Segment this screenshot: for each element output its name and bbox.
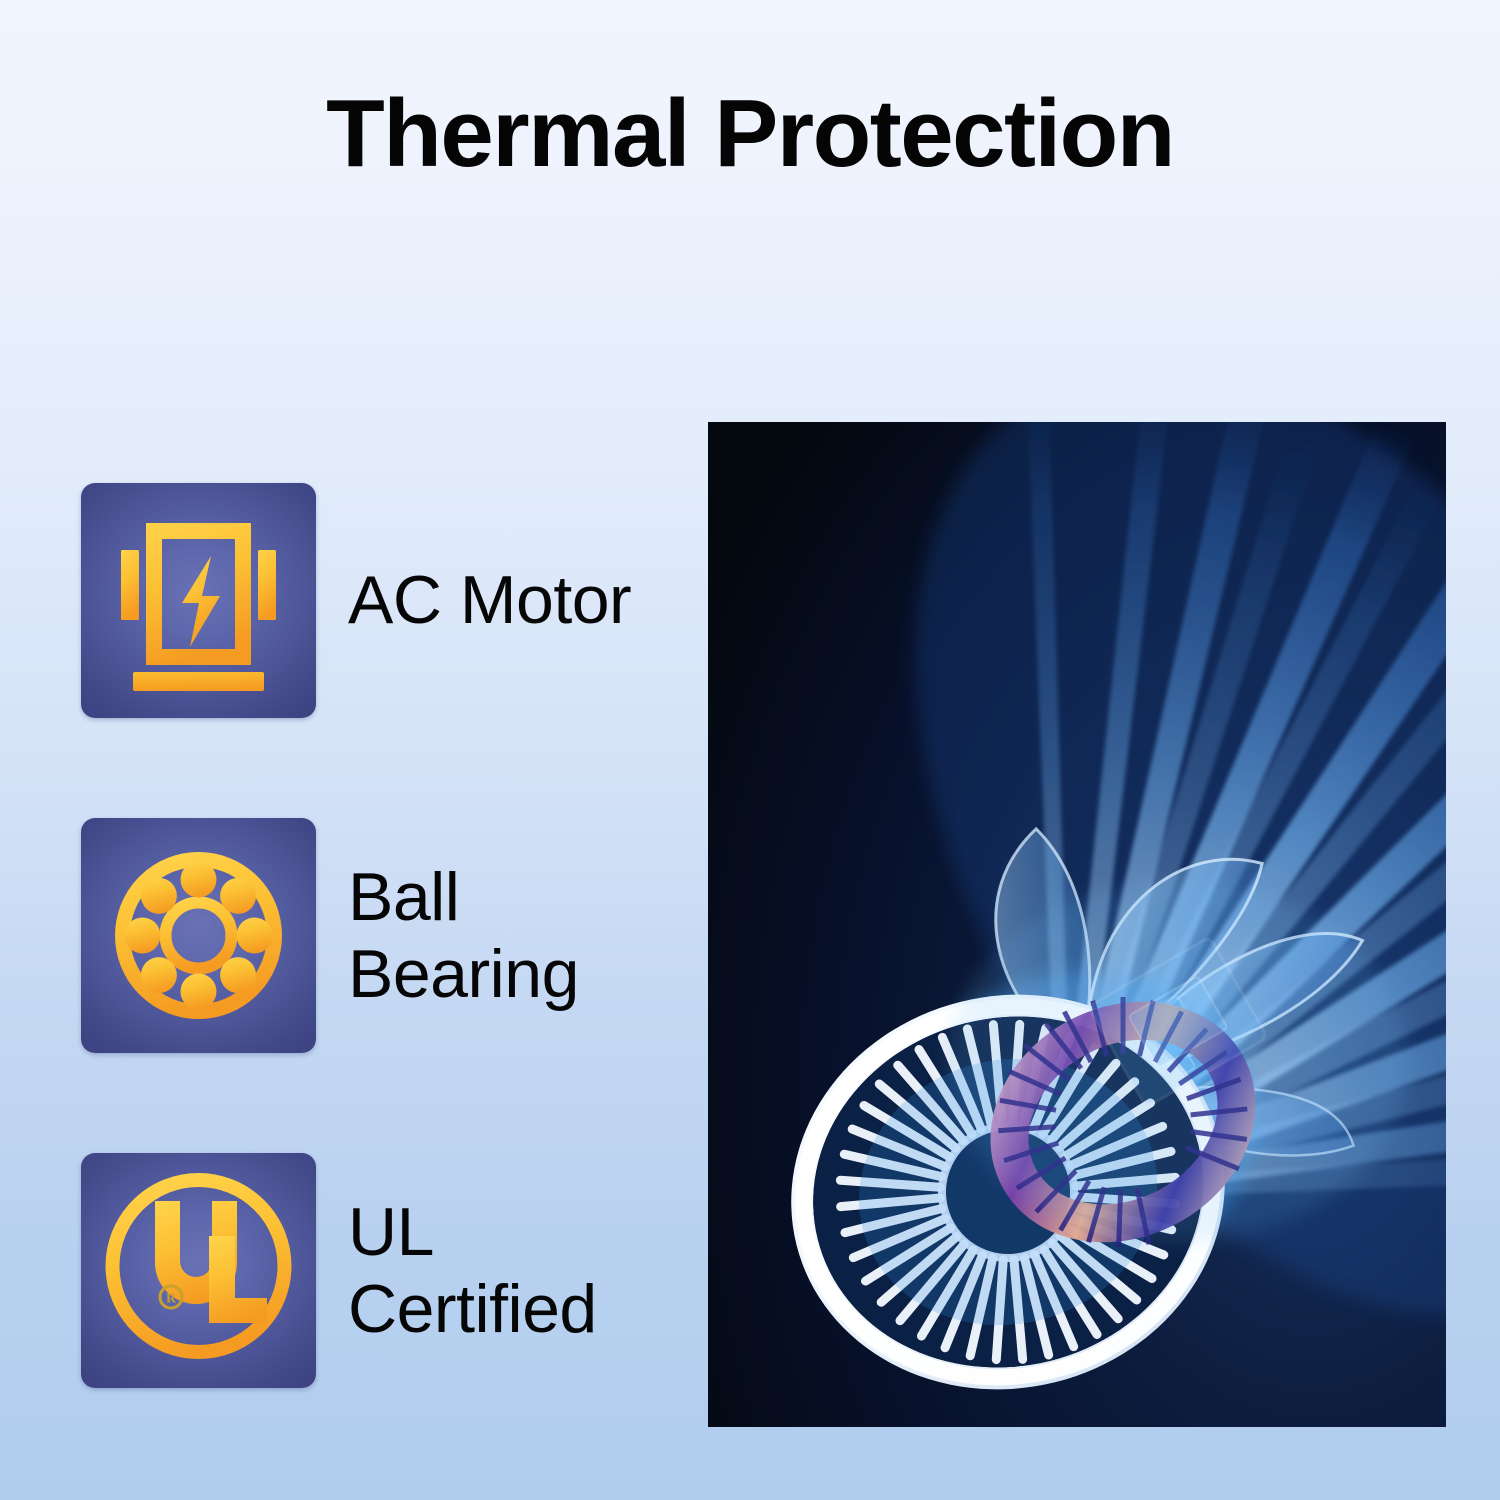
feature-item-ball-bearing: Ball Bearing xyxy=(81,818,681,1053)
feature-icon-tile-ball-bearing xyxy=(81,818,316,1053)
feature-icon-tile-ac-motor xyxy=(81,483,316,718)
photo-illustration xyxy=(708,422,1446,1427)
feature-list: AC Motor xyxy=(81,483,681,1388)
feature-label-ball-bearing: Ball Bearing xyxy=(348,859,579,1011)
feature-label-ac-motor: AC Motor xyxy=(348,562,631,638)
infographic-page: Thermal Protection xyxy=(0,0,1500,1500)
feature-label-ul-certified: UL Certified xyxy=(348,1194,597,1346)
ac-motor-icon xyxy=(81,483,316,718)
feature-icon-tile-ul-certified: R xyxy=(81,1153,316,1388)
ball-bearing-icon xyxy=(81,818,316,1053)
fan-motor-airflow-photo xyxy=(708,422,1446,1427)
feature-item-ac-motor: AC Motor xyxy=(81,483,681,718)
page-title: Thermal Protection xyxy=(0,86,1500,182)
ul-certified-icon: R xyxy=(81,1153,316,1388)
feature-item-ul-certified: R UL Certified xyxy=(81,1153,681,1388)
svg-text:R: R xyxy=(166,1292,177,1307)
